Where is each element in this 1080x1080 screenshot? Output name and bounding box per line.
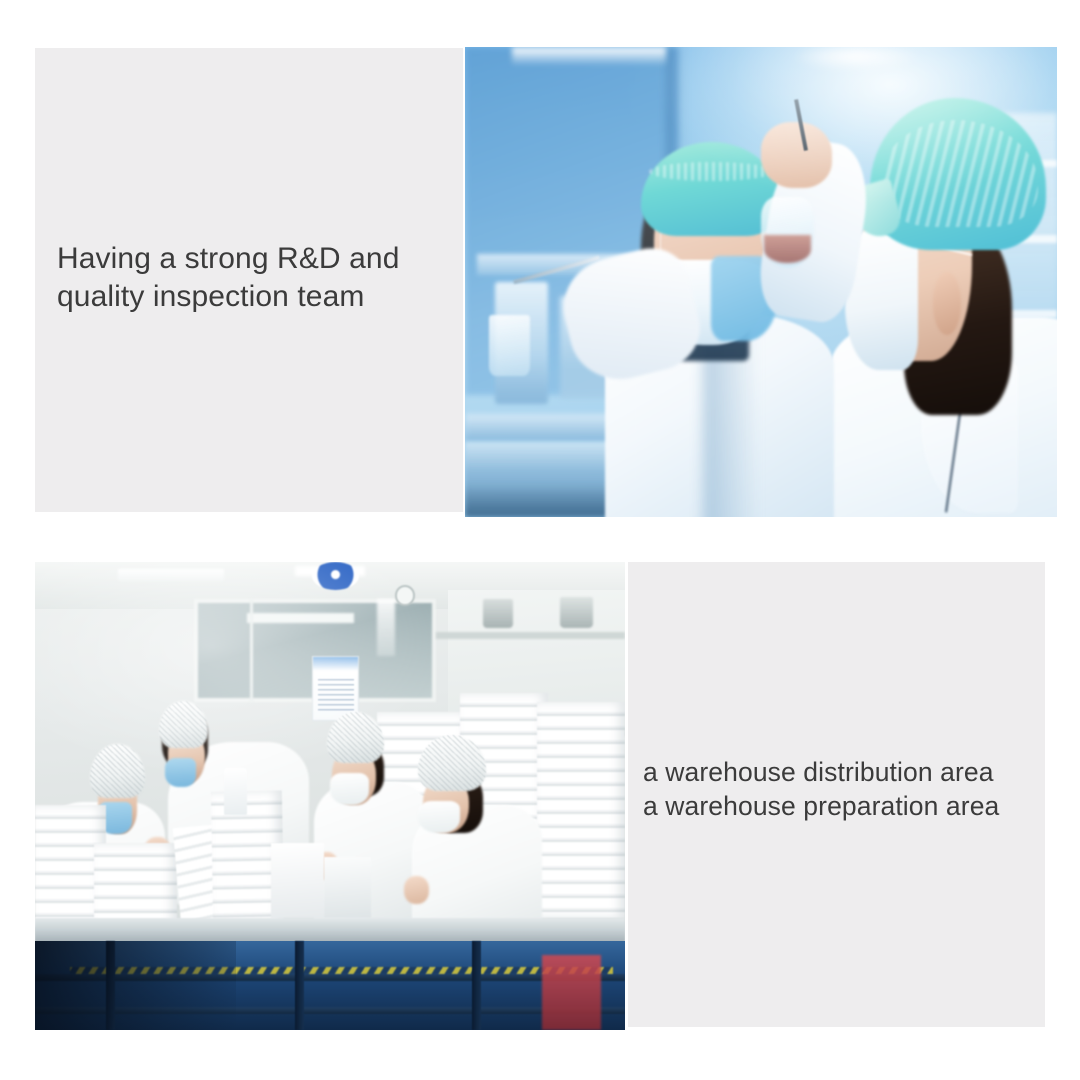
lab-worker-right-ear	[933, 272, 961, 335]
lab-quality-inspection-photo	[465, 47, 1057, 517]
bottom-caption: a warehouse distribution area a warehous…	[643, 755, 1048, 823]
top-caption-line-1: Having a strong R&D and	[57, 240, 457, 278]
cleanroom-ceiling-light-1	[118, 569, 224, 581]
carton-single-1	[271, 843, 324, 918]
lab-ceiling-light-left	[512, 47, 666, 66]
cleanroom-duct	[377, 599, 395, 655]
lab-ceiling-light-right	[791, 47, 921, 71]
cleanroom-window-light	[247, 613, 353, 622]
bottom-caption-line-2: a warehouse preparation area	[643, 789, 1048, 823]
cleanroom-steel-pot-2	[560, 597, 592, 627]
cleanroom-scene	[35, 562, 625, 1030]
red-object-under-table	[542, 955, 601, 1030]
carton-single-2	[324, 857, 371, 918]
worktable-leg-3	[472, 941, 481, 1030]
lab-flask-liquid	[764, 235, 811, 263]
packing-worker-2-hairnet-mesh	[159, 701, 208, 748]
packing-worker-4-hairnet-mesh	[418, 735, 486, 791]
top-caption: Having a strong R&D and quality inspecti…	[57, 240, 457, 316]
packing-worker-1-hairnet-mesh	[90, 744, 145, 798]
top-section: Having a strong R&D and quality inspecti…	[0, 0, 1080, 540]
packing-worker-4-hand	[404, 876, 429, 904]
worktable-under-shadow	[35, 941, 236, 1030]
warehouse-packing-photo	[35, 562, 625, 1030]
cleanroom-wall-clock	[395, 585, 415, 606]
packing-worker-3-mask	[330, 773, 369, 806]
top-caption-line-2: quality inspection team	[57, 278, 457, 316]
bottom-caption-line-1: a warehouse distribution area	[643, 755, 1048, 789]
lab-beaker	[489, 315, 530, 376]
lab-scene	[465, 47, 1057, 517]
carton-stack-3	[537, 702, 626, 917]
cleanroom-shelf-line	[436, 632, 625, 639]
cleanroom-steel-pot-1	[483, 599, 513, 627]
worktable-leg-2	[295, 941, 304, 1030]
packing-worker-3-hairnet-mesh	[327, 712, 384, 763]
packing-worker-4-mask	[418, 801, 460, 834]
bottom-section: a warehouse distribution area a warehous…	[0, 540, 1080, 1080]
lab-raised-hand	[761, 122, 832, 188]
bottle-upright	[224, 768, 248, 815]
packing-worker-2-mask	[165, 758, 196, 787]
